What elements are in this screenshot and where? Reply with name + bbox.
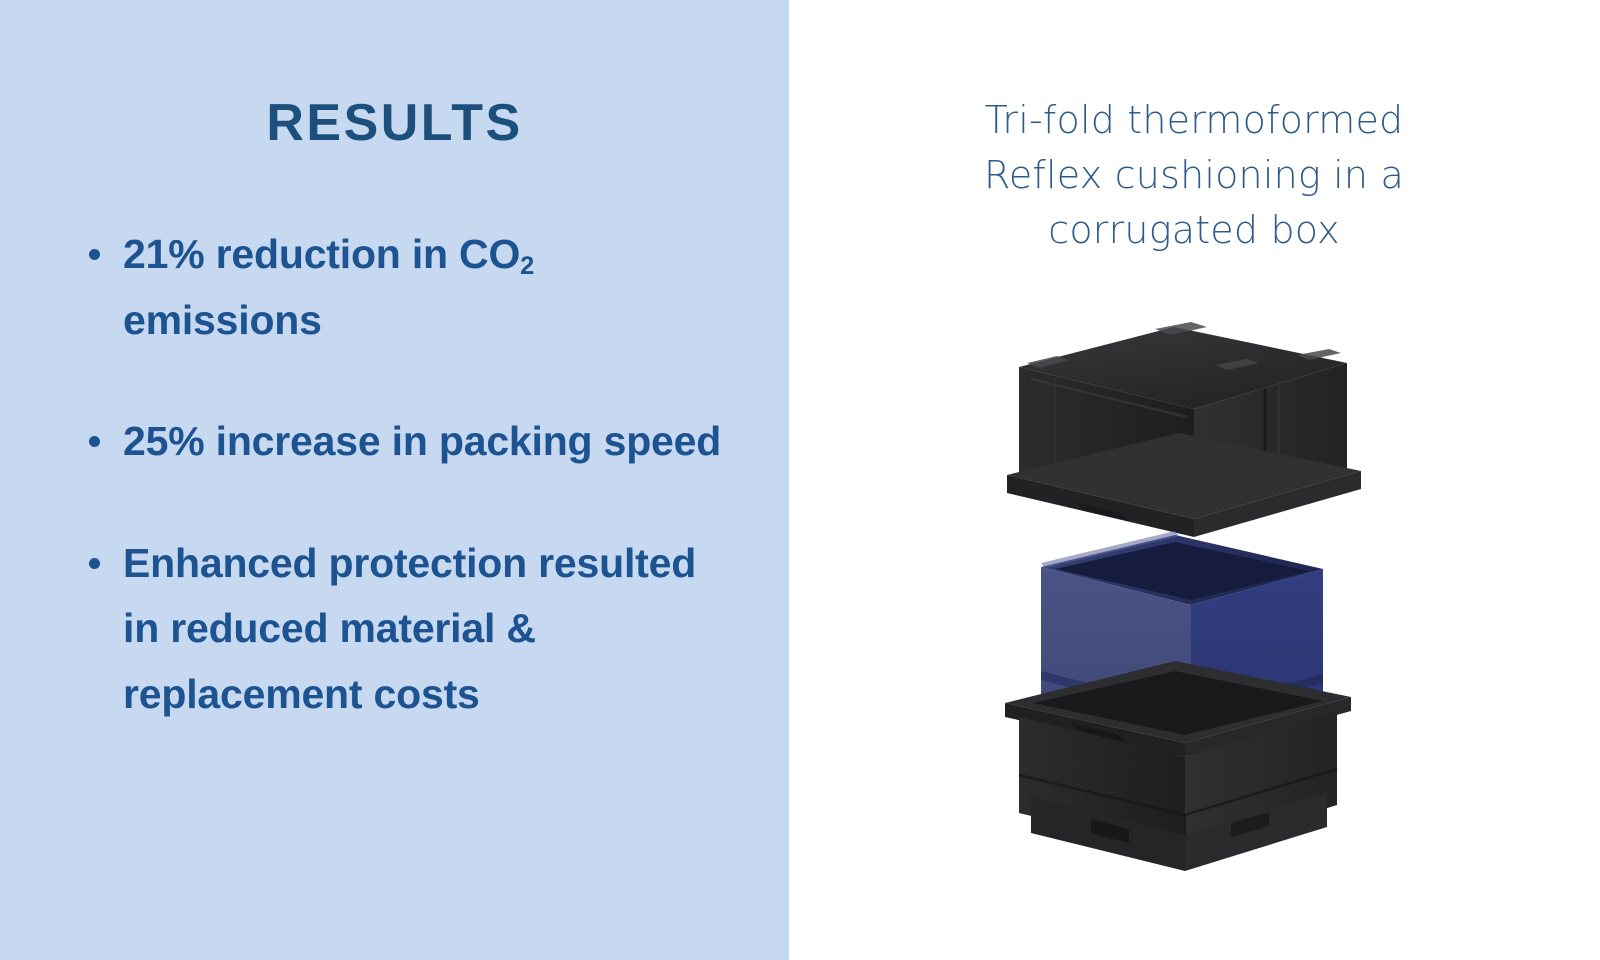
list-item: Enhanced protection resulted in reduced … bbox=[78, 531, 738, 728]
list-item: 21% reduction in CO2 emissions bbox=[78, 222, 738, 353]
bullet-text: 21% reduction in CO2 emissions bbox=[123, 231, 534, 343]
bullet-dot-icon bbox=[89, 436, 100, 447]
right-image-panel: Tri-fold thermoformed Reflex cushioning … bbox=[789, 0, 1600, 960]
bullet-text-tail: emissions bbox=[123, 297, 322, 343]
slide-canvas: RESULTS 21% reduction in CO2 emissions 2… bbox=[0, 0, 1600, 960]
bullet-text: Enhanced protection resulted in reduced … bbox=[123, 540, 696, 717]
image-caption: Tri-fold thermoformed Reflex cushioning … bbox=[929, 93, 1459, 258]
page-title: RESULTS bbox=[0, 93, 789, 153]
bullet-dot-icon bbox=[89, 558, 100, 569]
results-bullet-list: 21% reduction in CO2 emissions 25% incre… bbox=[78, 222, 738, 728]
bullet-subscript: 2 bbox=[520, 252, 534, 280]
bottom-cushion-tray bbox=[1005, 661, 1351, 871]
bullet-text: 25% increase in packing speed bbox=[123, 418, 721, 464]
top-cushion-tray bbox=[1007, 322, 1361, 537]
bullet-dot-icon bbox=[89, 249, 100, 260]
bullet-text-main: 21% reduction in CO bbox=[123, 231, 520, 277]
product-exploded-view-image bbox=[979, 305, 1409, 885]
list-item: 25% increase in packing speed bbox=[78, 409, 738, 475]
product-illustration bbox=[979, 305, 1409, 885]
left-content-panel: RESULTS 21% reduction in CO2 emissions 2… bbox=[0, 0, 789, 960]
